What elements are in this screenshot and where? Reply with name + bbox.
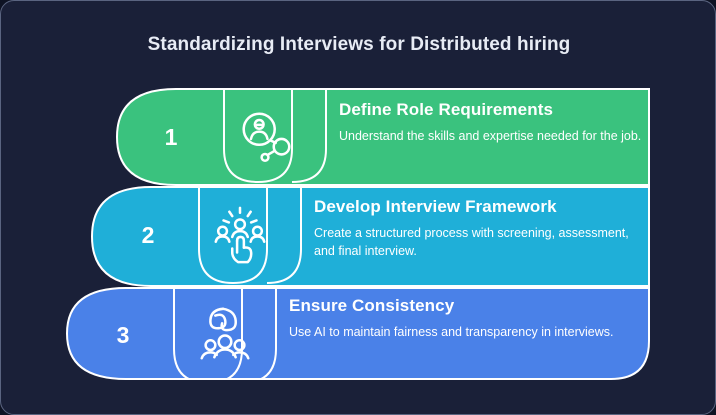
step-1-heading: Define Role Requirements bbox=[339, 100, 649, 120]
step-1-number: 1 bbox=[141, 124, 201, 151]
step-1-text: Define Role Requirements Understand the … bbox=[339, 100, 649, 145]
steps-stage: 3 Ensure Consistency Use AI to maintain … bbox=[1, 1, 716, 415]
step-1-description: Understand the skills and expertise need… bbox=[339, 127, 649, 145]
user-network-icon bbox=[235, 106, 297, 168]
infographic-card: Standardizing Interviews for Distributed… bbox=[0, 0, 716, 415]
step-row-1-shape[interactable] bbox=[1, 1, 716, 415]
